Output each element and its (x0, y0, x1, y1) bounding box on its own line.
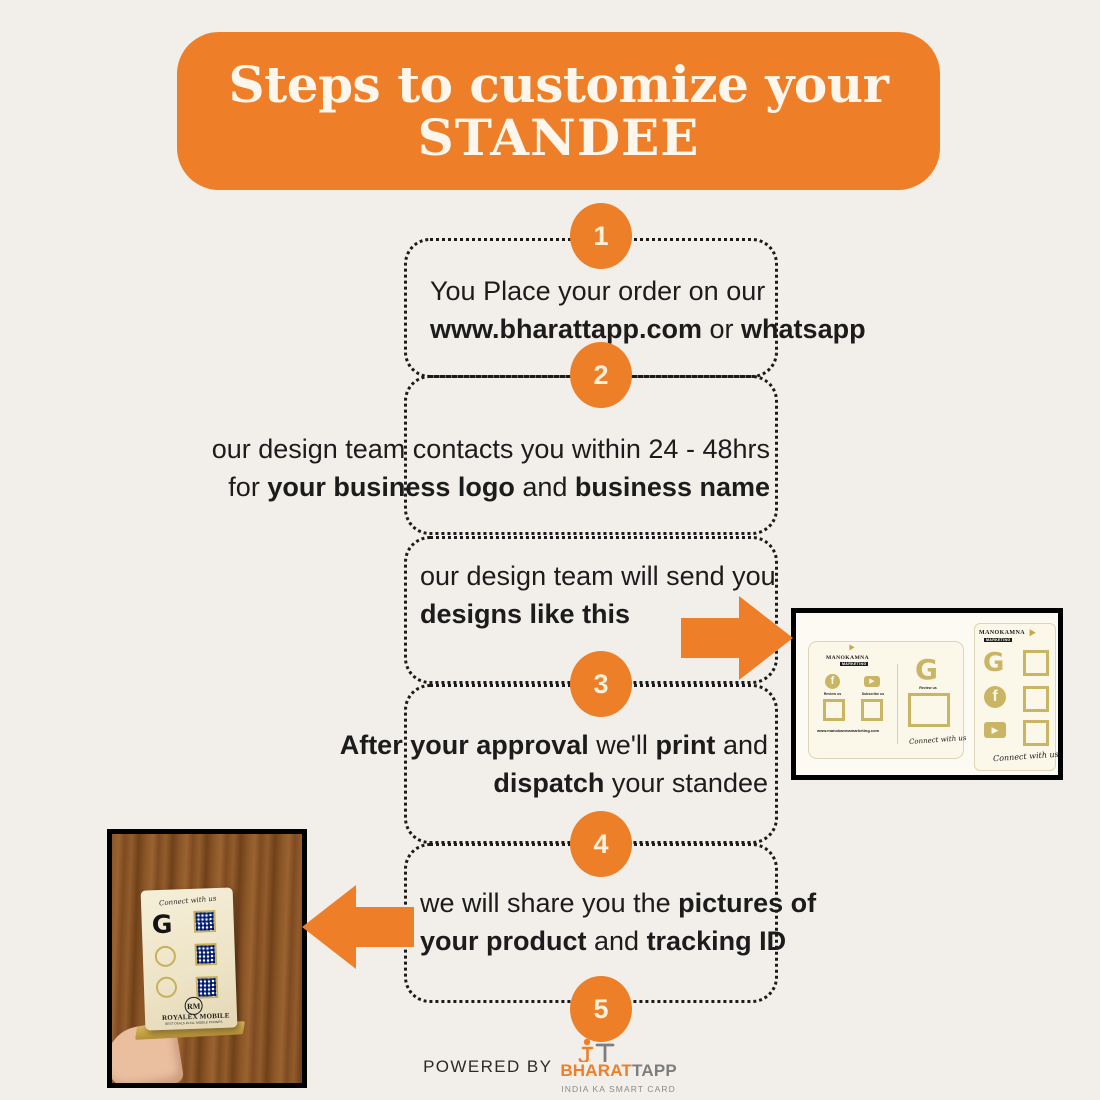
step-text-5: we will share you the pictures ofyour pr… (420, 884, 816, 961)
arrow-left-icon (302, 885, 414, 969)
footer: POWERED BY BHARATTAPP INDIA KA SMART CAR… (0, 1038, 1100, 1096)
qr-placeholder-large (908, 693, 950, 727)
google-g-icon: G (915, 656, 938, 684)
bharattapp-logo: BHARATTAPP INDIA KA SMART CARD (560, 1040, 677, 1094)
qr-code (194, 943, 217, 966)
infographic-canvas: Steps to customize your STANDEE You Plac… (0, 0, 1100, 1100)
facebook-icon: f (984, 686, 1006, 708)
brand-tapp: TAPP (632, 1061, 677, 1080)
page-title-line1: Steps to customize your (229, 55, 889, 114)
design-card-horizontal: ⯈ MANOKAMNA MARKETING f Review us ▶ Subs… (808, 641, 964, 759)
qr-placeholder (1023, 650, 1049, 676)
step-badge-5: 5 (570, 976, 632, 1042)
step-text-2: our design team contacts you within 24 -… (78, 430, 770, 507)
step-badge-4: 4 (570, 811, 632, 877)
card-a-youtube-label: Subscribe us (854, 692, 892, 696)
qr-code (196, 976, 219, 999)
brand-bharat: BHARAT (560, 1061, 632, 1080)
card-a-brand-sub: MARKETING (840, 662, 868, 666)
page-title: Steps to customize your STANDEE (199, 58, 919, 164)
qr-placeholder (861, 699, 883, 721)
card-divider (897, 664, 898, 744)
card-a-script: Connect with us (909, 734, 967, 746)
page-title-line2: STANDEE (199, 111, 919, 164)
facebook-icon: f (825, 674, 840, 689)
brand-tagline: INDIA KA SMART CARD (560, 1084, 677, 1094)
step-text-4: After your approval we'll print anddispa… (240, 726, 768, 803)
powered-by-label: POWERED BY (423, 1057, 552, 1077)
bharattapp-mark-icon (574, 1038, 620, 1062)
qr-placeholder (823, 699, 845, 721)
step-badge-2: 2 (570, 342, 632, 408)
youtube-icon: ▶ (984, 722, 1006, 738)
wings-logo-icon: ⯈ (1027, 627, 1037, 640)
card-a-brand: MANOKAMNA (826, 655, 869, 661)
google-g-icon: G (151, 912, 172, 938)
standee-script: Connect with us (159, 895, 217, 908)
instagram-icon (155, 945, 177, 967)
card-a-google-label: Review us (907, 686, 949, 690)
card-a-url: www.manokamnamarketing.com (817, 728, 879, 733)
design-mockup-image: ⯈ MANOKAMNA MARKETING f Review us ▶ Subs… (791, 608, 1063, 780)
step-badge-3: 3 (570, 651, 632, 717)
youtube-icon: ▶ (864, 676, 880, 687)
card-a-facebook-label: Review us (815, 692, 850, 696)
standee-brand-sub: BEST DEALS IN ALL MOBILE PHONES (165, 1020, 222, 1026)
card-b-script: Connect with us (993, 750, 1059, 764)
header-banner: Steps to customize your STANDEE (177, 32, 940, 190)
standee-panel: Connect with us G RM ROYALEX MOBILE BEST… (141, 887, 238, 1030)
qr-code (193, 910, 216, 933)
card-b-brand-sub: MARKETING (984, 638, 1012, 642)
step-badge-1: 1 (570, 203, 632, 269)
wings-logo-icon: ⯈ (847, 644, 856, 655)
qr-placeholder (1023, 720, 1049, 746)
qr-placeholder (1023, 686, 1049, 712)
bharattapp-wordmark: BHARATTAPP (560, 1061, 677, 1080)
design-card-vertical: MANOKAMNA MARKETING ⯈ G f ▶ Connect with… (974, 623, 1056, 771)
arrow-right-icon (681, 596, 793, 680)
step-text-1: You Place your order on ourwww.bharattap… (430, 272, 866, 349)
card-b-brand: MANOKAMNA (979, 630, 1025, 636)
google-g-icon: G (983, 650, 1004, 676)
whatsapp-icon (156, 976, 178, 998)
